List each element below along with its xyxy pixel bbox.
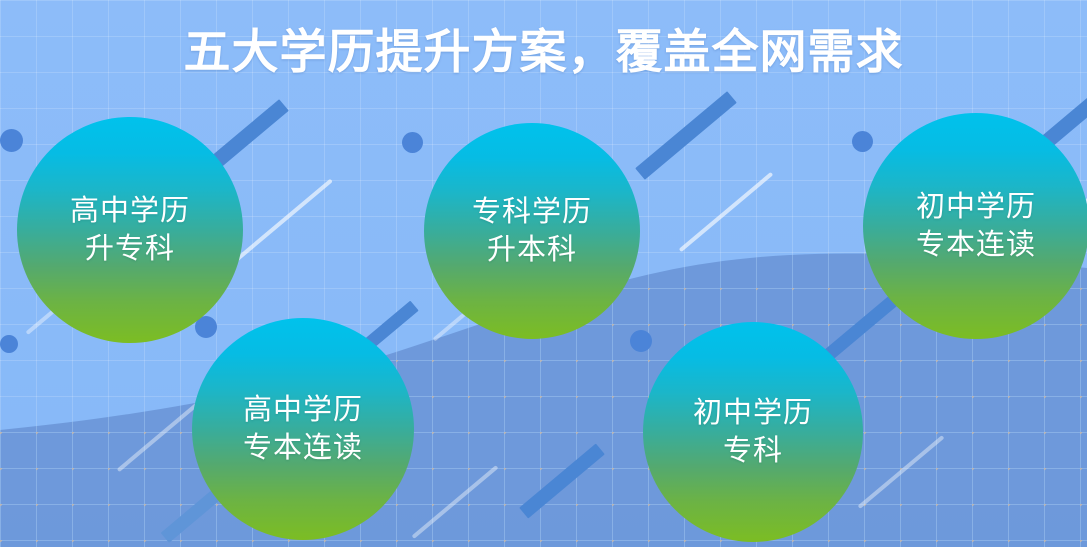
bubble-line-1: 高中学历 [70, 192, 190, 230]
bubble-line-1: 专科学历 [472, 193, 592, 231]
page-title: 五大学历提升方案，覆盖全网需求 [0, 23, 1087, 81]
decor-dot-1 [0, 129, 23, 152]
promo-banner: 五大学历提升方案，覆盖全网需求 高中学历 升专科 高中学历 专本连读 专科学历 … [0, 0, 1087, 547]
bubble-gaozhong-shengzhuanke[interactable]: 高中学历 升专科 [17, 117, 243, 343]
bubble-line-2: 专本连读 [243, 429, 363, 467]
decor-dot-2 [402, 132, 423, 153]
bubble-line-1: 高中学历 [243, 391, 363, 429]
bubble-line-2: 专科 [723, 432, 783, 470]
bubble-chuzhong-zhuanbenliandu[interactable]: 初中学历 专本连读 [863, 113, 1087, 339]
bubble-line-1: 初中学历 [693, 394, 813, 432]
decor-dot-5 [630, 330, 652, 352]
bubble-line-2: 专本连读 [916, 226, 1036, 264]
bubble-line-2: 升专科 [85, 230, 175, 268]
decor-dot-6 [0, 335, 18, 353]
bubble-chuzhong-zhuanke[interactable]: 初中学历 专科 [643, 322, 863, 542]
decor-dot-3 [852, 131, 873, 152]
bubble-zhuanke-shengbenke[interactable]: 专科学历 升本科 [424, 123, 640, 339]
bubble-gaozhong-zhuanbenliandu[interactable]: 高中学历 专本连读 [192, 318, 414, 540]
bubble-line-2: 升本科 [487, 231, 577, 269]
bubble-line-1: 初中学历 [916, 188, 1036, 226]
